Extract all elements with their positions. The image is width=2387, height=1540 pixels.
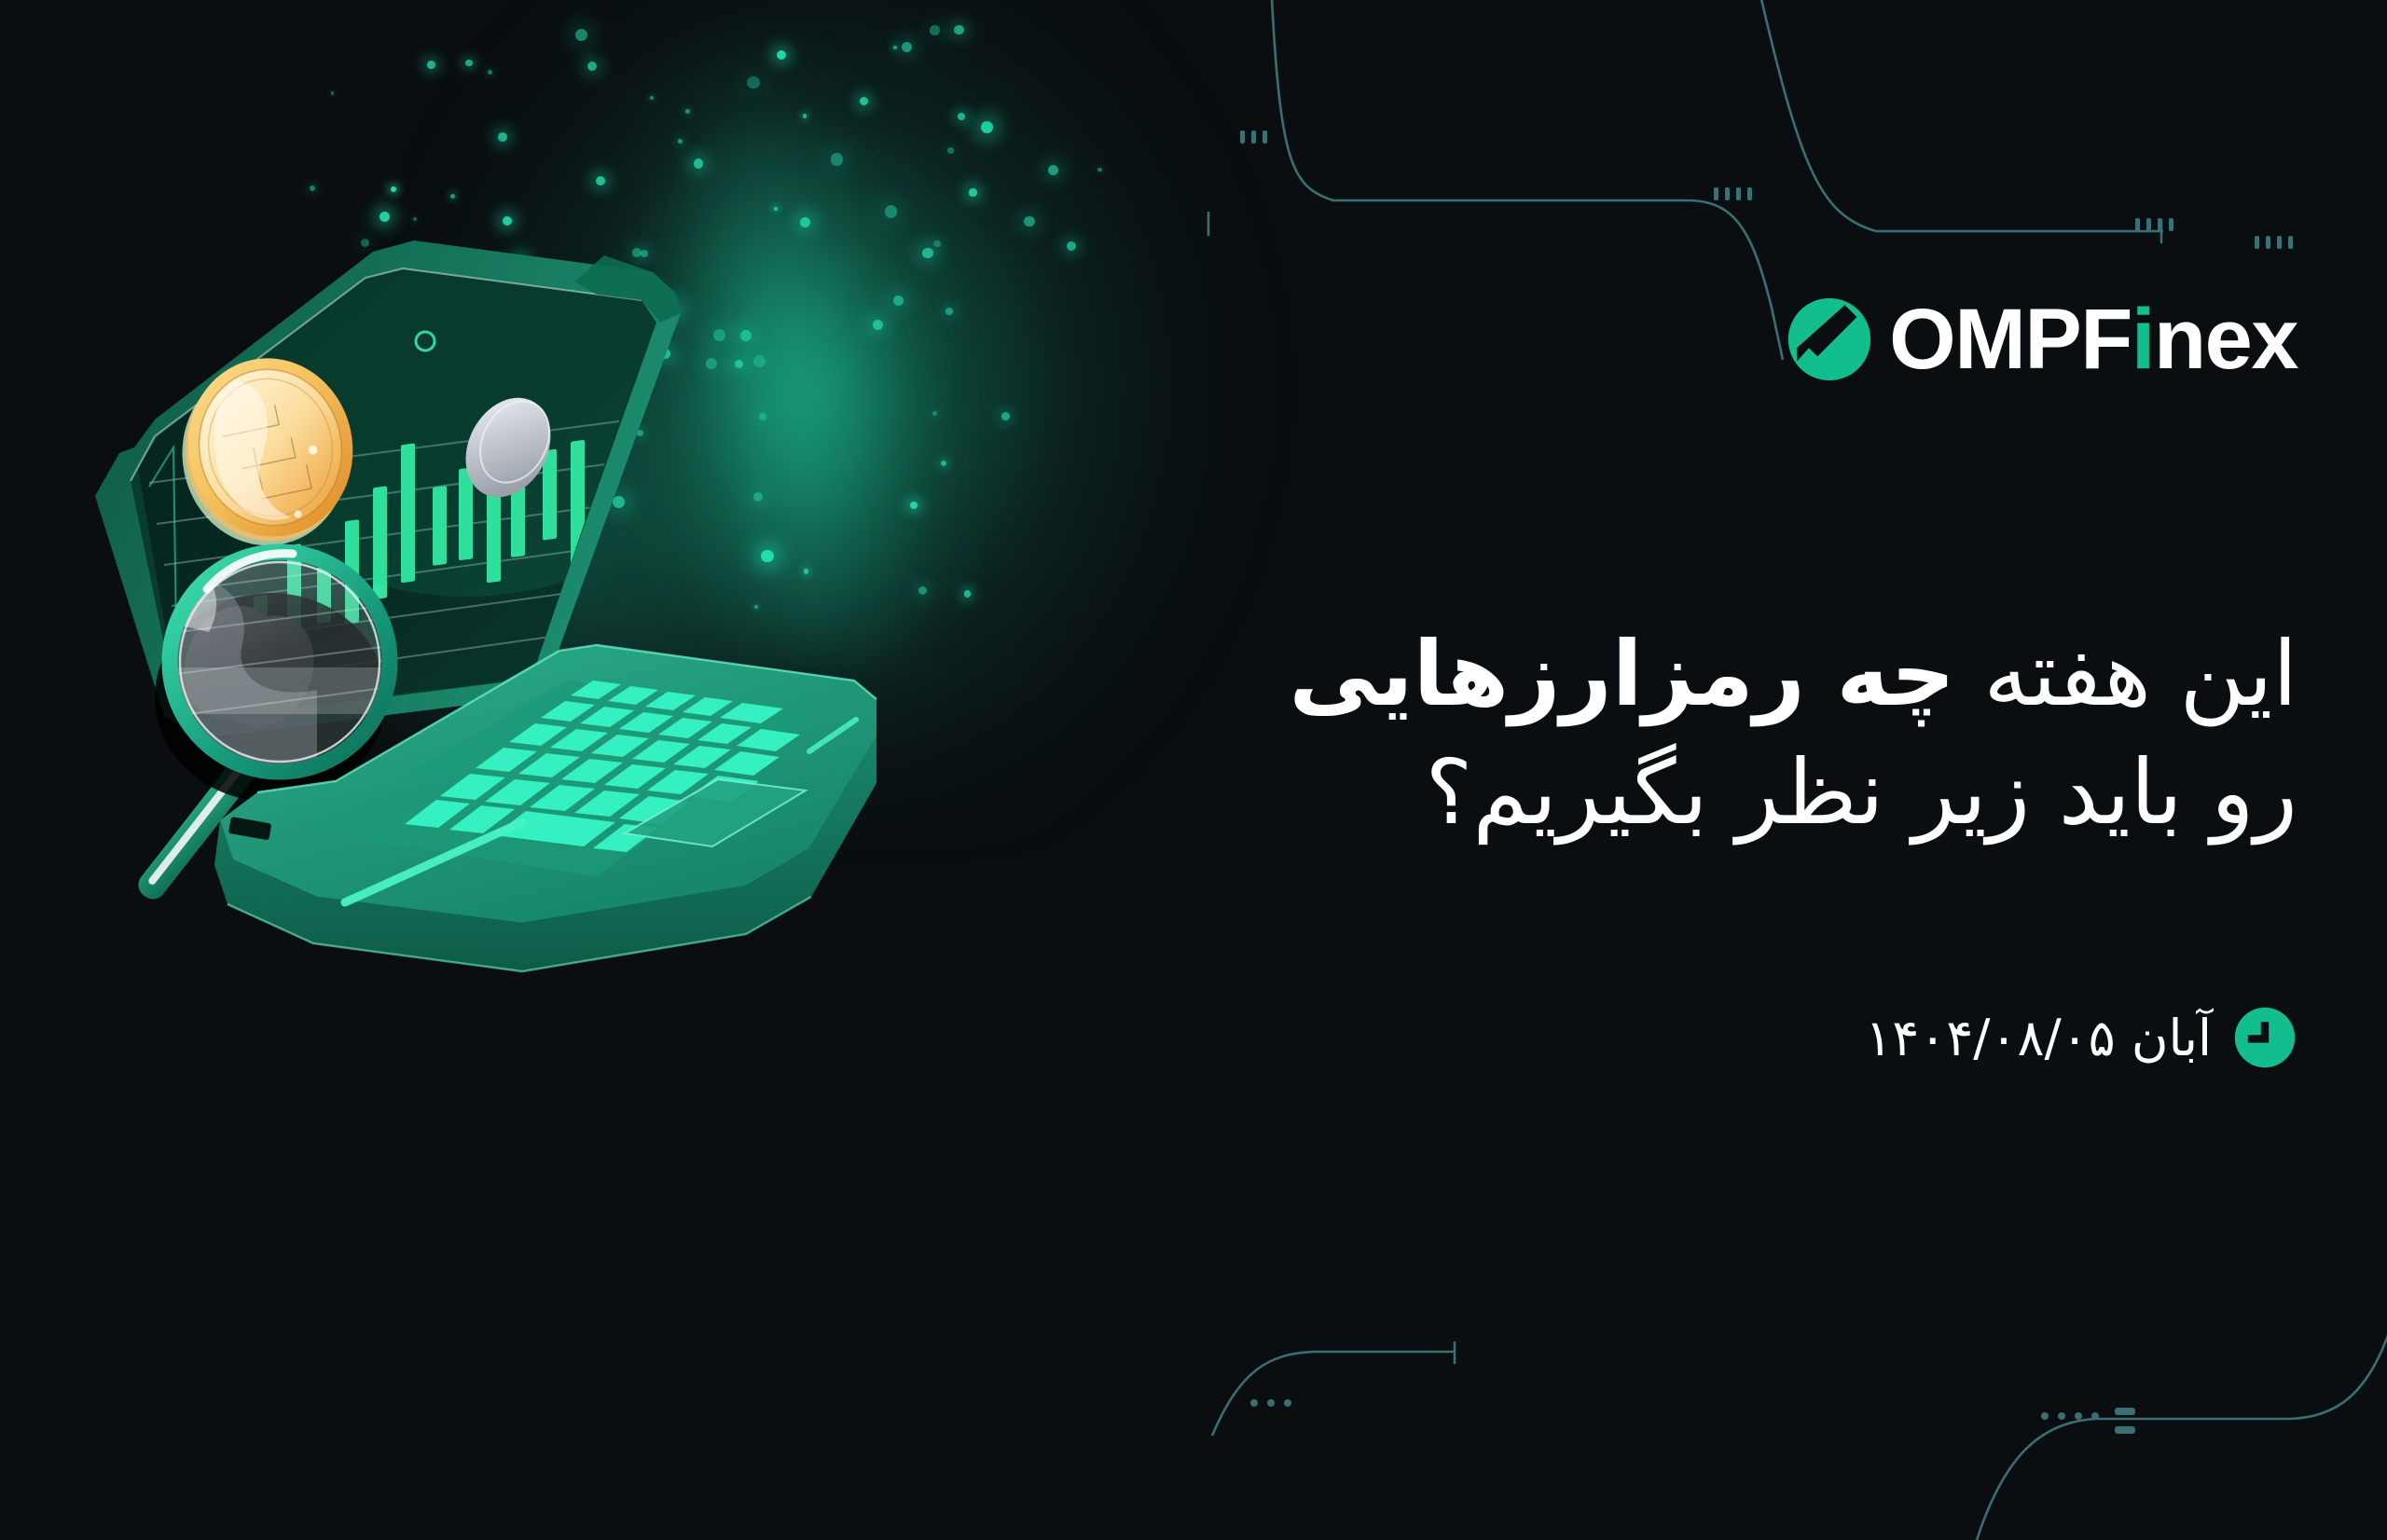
banner-canvas: OMPFinex این هفته چه رمزارزهایی رو باید … xyxy=(0,0,2387,1540)
glow-particle xyxy=(958,113,965,120)
glow-particle xyxy=(650,96,654,100)
glow-particle xyxy=(803,114,807,118)
glow-particle xyxy=(981,121,993,133)
brand-word-part-3: nex xyxy=(2154,292,2297,387)
glow-particle xyxy=(893,46,897,49)
ompfinex-bolt-logo-icon xyxy=(1787,296,1872,382)
glow-particle xyxy=(575,29,587,41)
glow-particle xyxy=(331,91,335,95)
glow-particle xyxy=(427,61,435,69)
headline-block: این هفته چه رمزارزهایی رو باید زیر نظر ب… xyxy=(1197,615,2297,851)
laptop-illustration xyxy=(37,140,1063,1147)
glow-particle xyxy=(902,42,912,52)
headline-line-1-light: این هفته xyxy=(1983,622,2297,726)
publish-date: آبان ۱۴۰۴/۰۸/۰۵ xyxy=(1865,1005,2297,1070)
glow-particle xyxy=(954,25,963,34)
glow-particle xyxy=(1067,241,1076,251)
glow-particle xyxy=(1097,168,1101,172)
brand-word-part-1: OMPF xyxy=(1889,292,2132,387)
glow-particle xyxy=(488,70,492,75)
glow-particle xyxy=(930,25,940,35)
glow-particle xyxy=(747,76,760,89)
date-text: آبان ۱۴۰۴/۰۸/۰۵ xyxy=(1865,1009,2212,1067)
brand-lockup[interactable]: OMPFinex xyxy=(1787,296,2297,382)
glow-particle xyxy=(860,97,868,105)
glow-particle xyxy=(685,109,690,114)
glow-particle xyxy=(465,60,472,66)
headline-line-1-strong: چه رمزارزهایی xyxy=(1289,622,1954,726)
headline-line-1: این هفته چه رمزارزهایی xyxy=(1197,615,2297,734)
clock-icon xyxy=(2232,1005,2297,1070)
glow-particle xyxy=(777,50,787,61)
glow-particle xyxy=(587,62,597,71)
brand-wordmark: OMPFinex xyxy=(1889,296,2297,382)
brand-word-part-2: i xyxy=(2132,292,2154,387)
content-column: OMPFinex این هفته چه رمزارزهایی رو باید … xyxy=(1197,0,2297,1540)
headline-line-2: رو باید زیر نظر بگیریم؟ xyxy=(1197,734,2297,852)
